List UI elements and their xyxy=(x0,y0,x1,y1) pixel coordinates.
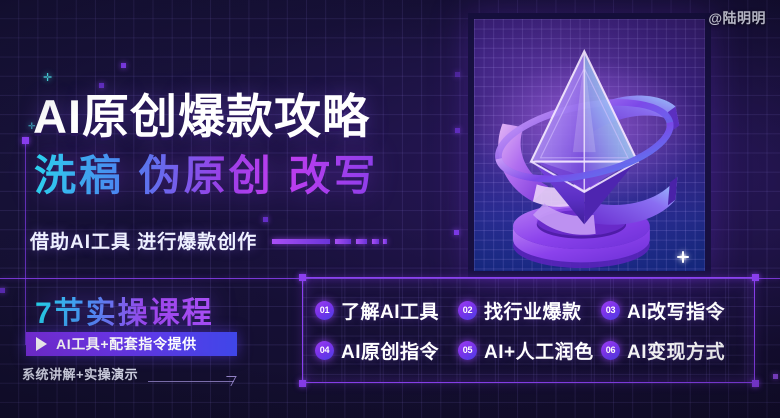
course-number-badge: 05 xyxy=(458,341,477,360)
panel-corner-marker xyxy=(752,274,759,281)
course-item[interactable]: 04AI原创指令 xyxy=(315,337,458,364)
course-item[interactable]: 05AI+人工润色 xyxy=(458,337,601,364)
page-subtitle: 洗稿 伪原创 改写 xyxy=(34,142,378,203)
course-item-label: 了解AI工具 xyxy=(341,297,439,324)
panel-corner-marker xyxy=(299,380,306,387)
offer-badge[interactable]: AI工具+配套指令提供 xyxy=(26,332,237,356)
course-item-label: AI变现方式 xyxy=(627,337,725,364)
deco-square xyxy=(454,230,459,235)
course-item[interactable]: 01了解AI工具 xyxy=(315,297,458,324)
deco-square xyxy=(773,374,778,379)
course-item[interactable]: 03AI改写指令 xyxy=(601,297,744,324)
panel-corner-marker xyxy=(752,380,759,387)
watermark: @陆明明 xyxy=(708,8,766,28)
course-number-badge: 03 xyxy=(601,301,620,320)
course-rows: 01了解AI工具02找行业爆款03AI改写指令04AI原创指令05AI+人工润色… xyxy=(303,278,754,382)
course-number-badge: 02 xyxy=(458,301,477,320)
sparkle-icon xyxy=(677,251,689,263)
poster-canvas: ✛ ✛ xyxy=(0,0,780,418)
offer-badge-label: AI工具+配套指令提供 xyxy=(56,334,197,354)
course-number-badge: 06 xyxy=(601,341,620,360)
deco-square xyxy=(121,63,126,68)
course-item-label: AI改写指令 xyxy=(627,297,725,324)
lesson-count: 7节实操课程 xyxy=(35,288,214,332)
course-item-label: AI原创指令 xyxy=(341,337,439,364)
title-frame-marker xyxy=(22,137,29,144)
course-row: 01了解AI工具02找行业爆款03AI改写指令 xyxy=(315,290,744,330)
course-list-panel: 01了解AI工具02找行业爆款03AI改写指令04AI原创指令05AI+人工润色… xyxy=(302,277,755,383)
course-item-label: AI+人工润色 xyxy=(484,337,594,364)
hero-image-panel xyxy=(468,13,711,277)
page-title: AI原创爆款攻略 xyxy=(33,78,370,147)
course-item[interactable]: 02找行业爆款 xyxy=(458,297,601,324)
panel-corner-marker xyxy=(299,274,306,281)
tagline: 借助AI工具 进行爆款创作 xyxy=(30,227,257,254)
course-number-badge: 01 xyxy=(315,301,334,320)
title-frame-line xyxy=(25,140,26,345)
footnote: 系统讲解+实操演示 xyxy=(22,364,138,383)
course-row: 04AI原创指令05AI+人工润色06AI变现方式 xyxy=(315,330,744,370)
course-item[interactable]: 06AI变现方式 xyxy=(601,337,744,364)
arrow-decoration xyxy=(148,376,234,386)
play-icon xyxy=(36,337,47,351)
deco-square xyxy=(455,72,460,77)
deco-square xyxy=(455,128,460,133)
pyramid-3d-illustration xyxy=(474,19,705,270)
deco-square xyxy=(263,217,268,222)
dash-decoration xyxy=(272,239,390,244)
deco-square xyxy=(0,288,5,293)
course-item-label: 找行业爆款 xyxy=(484,297,582,324)
course-number-badge: 04 xyxy=(315,341,334,360)
